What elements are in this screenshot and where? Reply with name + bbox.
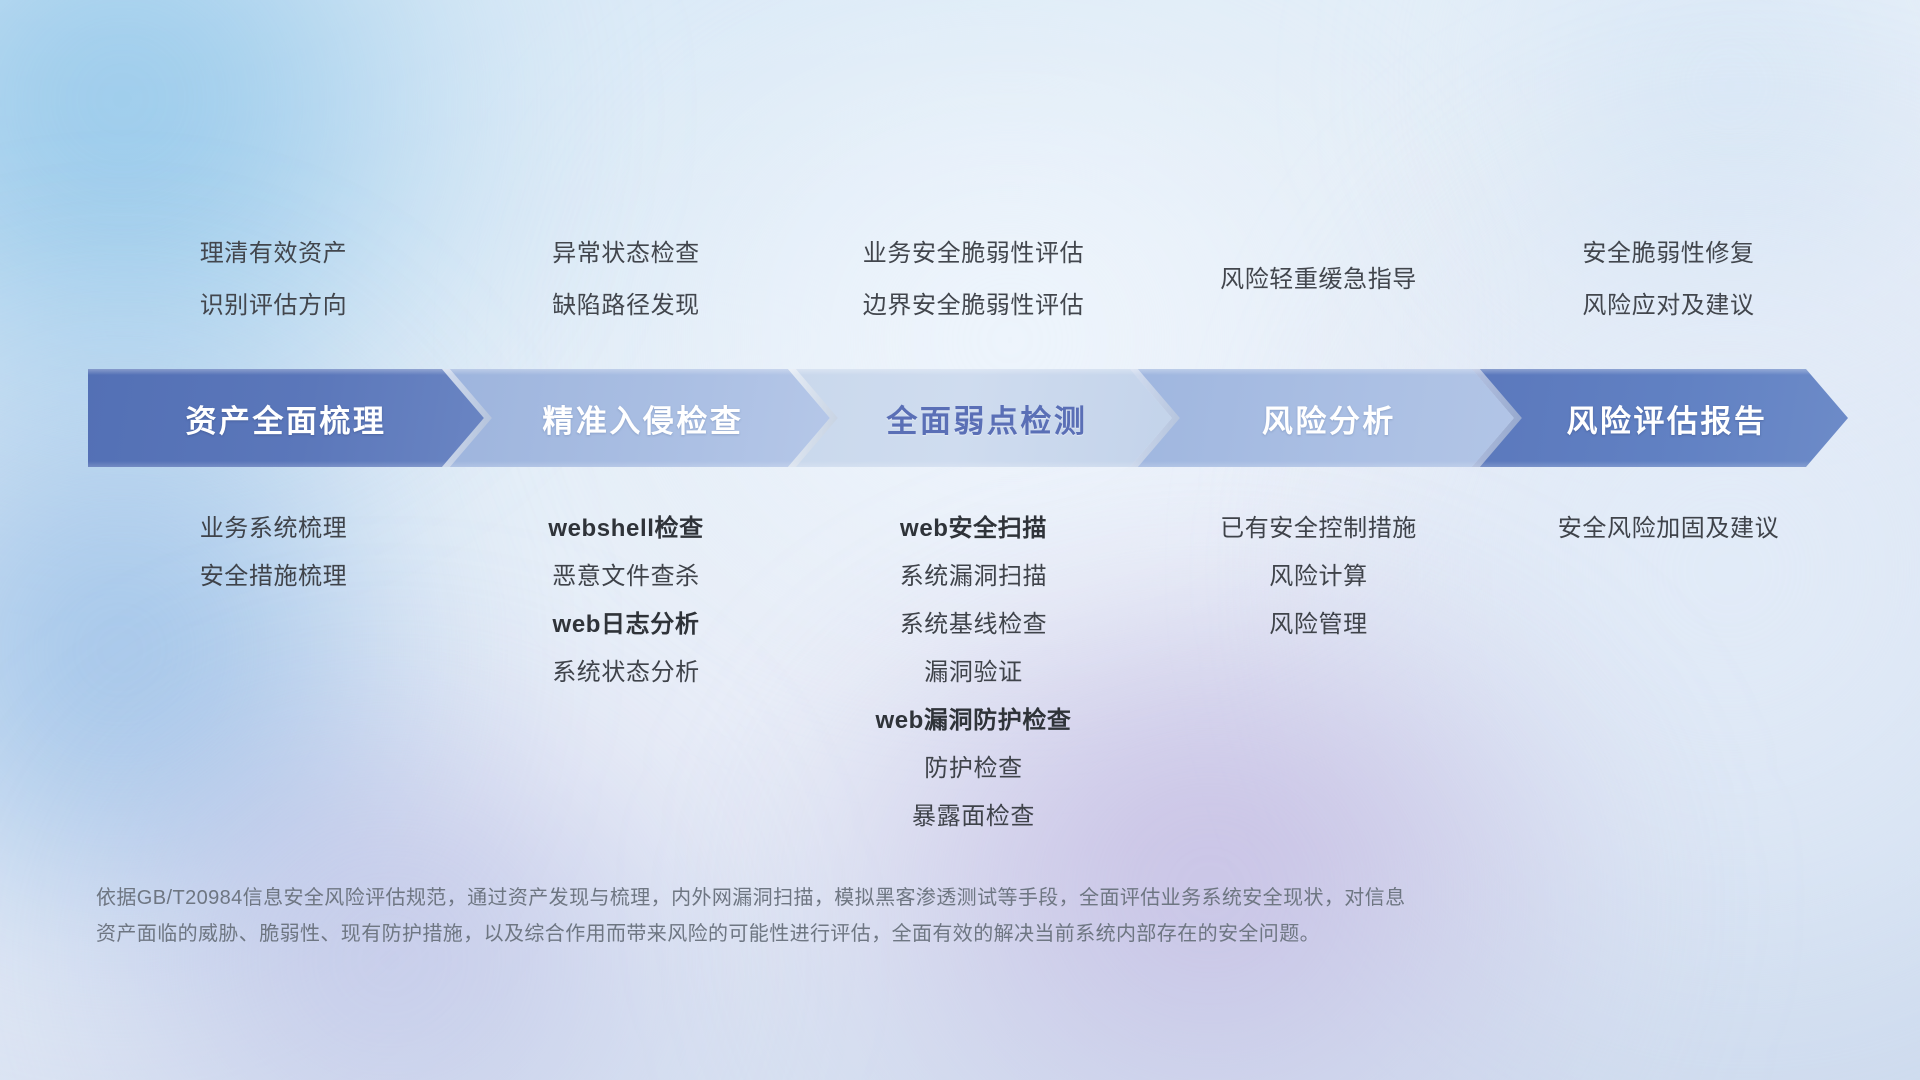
top-note: 业务安全脆弱性评估 (801, 228, 1146, 280)
chevron-stage-3[interactable]: 全面弱点检测 (788, 369, 1172, 467)
bottom-items-row: 业务系统梳理 安全措施梳理 webshell检查 恶意文件查杀 web日志分析 … (96, 505, 1846, 841)
list-item: 恶意文件查杀 (451, 553, 801, 601)
list-item: 安全风险加固及建议 (1491, 505, 1846, 553)
top-note: 边界安全脆弱性评估 (801, 280, 1146, 332)
list-item: 已有安全控制措施 (1146, 505, 1491, 553)
list-item: 安全措施梳理 (96, 553, 451, 601)
chevron-label: 全面弱点检测 (872, 396, 1087, 441)
top-note: 识别评估方向 (96, 280, 451, 332)
chevron-label: 资产全面梳理 (185, 396, 386, 441)
bottom-items-stage-1: 业务系统梳理 安全措施梳理 (96, 505, 451, 841)
list-item: 系统状态分析 (451, 649, 801, 697)
list-item: web安全扫描 (801, 505, 1146, 553)
bottom-items-stage-2: webshell检查 恶意文件查杀 web日志分析 系统状态分析 (451, 505, 801, 841)
process-chevron-banner: 资产全面梳理 精准入侵检查 全面弱点检测 风险分析 风险评估报告 (88, 369, 1848, 467)
top-note: 风险应对及建议 (1491, 280, 1846, 332)
top-notes-stage-3: 业务安全脆弱性评估 边界安全脆弱性评估 (801, 228, 1146, 332)
top-note: 风险轻重缓急指导 (1146, 254, 1491, 306)
list-item: 系统漏洞扫描 (801, 553, 1146, 601)
top-notes-stage-1: 理清有效资产 识别评估方向 (96, 228, 451, 332)
top-notes-stage-2: 异常状态检查 缺陷路径发现 (451, 228, 801, 332)
chevron-stage-2[interactable]: 精准入侵检查 (442, 369, 830, 467)
chevron-label: 风险分析 (1248, 396, 1396, 441)
top-note: 缺陷路径发现 (451, 280, 801, 332)
top-note: 理清有效资产 (96, 228, 451, 280)
top-note: 异常状态检查 (451, 228, 801, 280)
list-item: web日志分析 (451, 601, 801, 649)
top-note: 安全脆弱性修复 (1491, 228, 1846, 280)
list-item: webshell检查 (451, 505, 801, 553)
list-item: 风险计算 (1146, 553, 1491, 601)
list-item: web漏洞防护检查 (801, 697, 1146, 745)
chevron-stage-1[interactable]: 资产全面梳理 (88, 369, 484, 467)
bottom-items-stage-3: web安全扫描 系统漏洞扫描 系统基线检查 漏洞验证 web漏洞防护检查 防护检… (801, 505, 1146, 841)
chevron-label: 精准入侵检查 (528, 396, 743, 441)
footer-line-2: 资产面临的威胁、脆弱性、现有防护措施，以及综合作用而带来风险的可能性进行评估，全… (96, 916, 1616, 952)
chevron-label: 风险评估报告 (1552, 396, 1767, 441)
footer-description: 依据GB/T20984信息安全风险评估规范，通过资产发现与梳理，内外网漏洞扫描，… (96, 880, 1616, 952)
list-item: 风险管理 (1146, 601, 1491, 649)
chevron-stage-4[interactable]: 风险分析 (1130, 369, 1514, 467)
list-item: 系统基线检查 (801, 601, 1146, 649)
chevron-stage-5[interactable]: 风险评估报告 (1472, 369, 1848, 467)
list-item: 暴露面检查 (801, 793, 1146, 841)
list-item: 漏洞验证 (801, 649, 1146, 697)
bottom-items-stage-5: 安全风险加固及建议 (1491, 505, 1846, 841)
top-notes-stage-5: 安全脆弱性修复 风险应对及建议 (1491, 228, 1846, 332)
bottom-items-stage-4: 已有安全控制措施 风险计算 风险管理 (1146, 505, 1491, 841)
list-item: 业务系统梳理 (96, 505, 451, 553)
list-item: 防护检查 (801, 745, 1146, 793)
top-notes-row: 理清有效资产 识别评估方向 异常状态检查 缺陷路径发现 业务安全脆弱性评估 边界… (96, 228, 1846, 332)
diagram-canvas: 理清有效资产 识别评估方向 异常状态检查 缺陷路径发现 业务安全脆弱性评估 边界… (0, 0, 1920, 1080)
top-notes-stage-4: 风险轻重缓急指导 (1146, 228, 1491, 332)
footer-line-1: 依据GB/T20984信息安全风险评估规范，通过资产发现与梳理，内外网漏洞扫描，… (96, 880, 1616, 916)
